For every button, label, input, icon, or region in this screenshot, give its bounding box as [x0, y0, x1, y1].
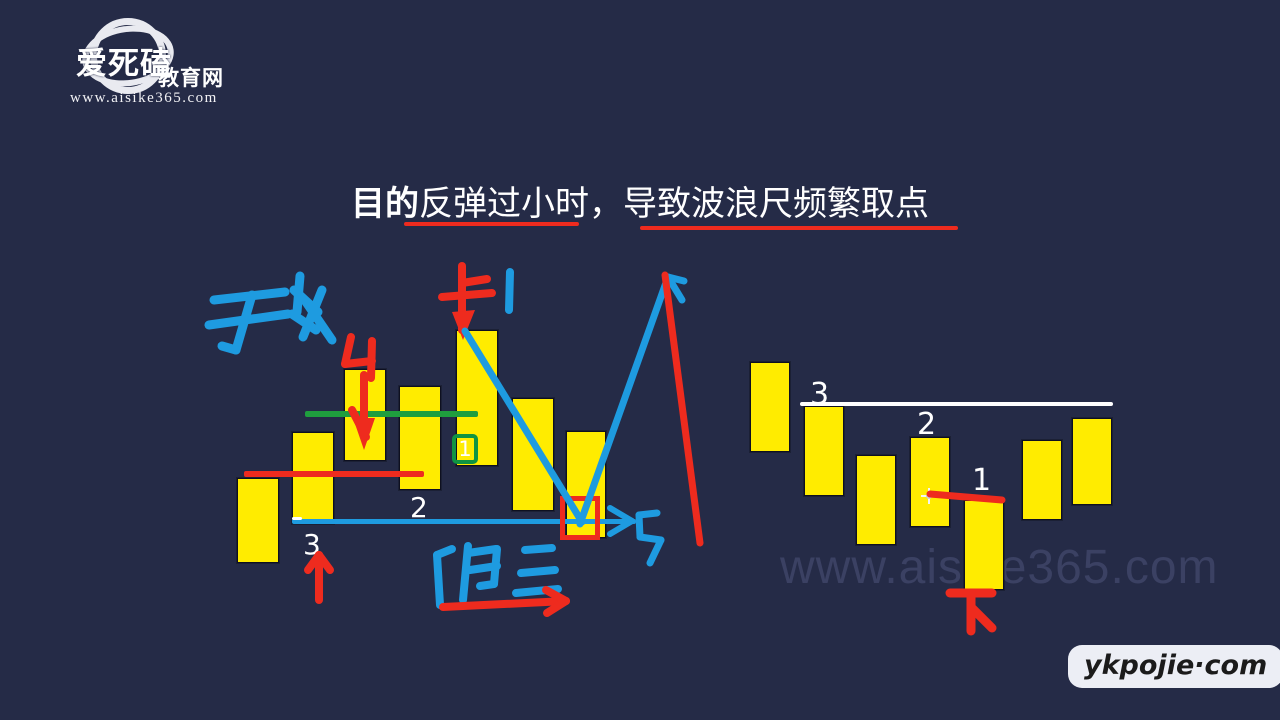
annotation-3-up-arrow: [308, 555, 330, 600]
title-bold-prefix: 目的: [351, 184, 419, 224]
label-3-right: 3: [810, 377, 829, 412]
site-badge: ykpojie·com: [1068, 645, 1280, 688]
label-1-right: 1: [972, 463, 991, 498]
candle-body: [512, 398, 554, 511]
annotation-1-stroke: [509, 272, 510, 310]
brand-sub-label: 教育网: [158, 62, 224, 92]
title-underline-2: [640, 226, 958, 230]
annotation-wuxiao: [209, 276, 332, 350]
candle-body: [1022, 440, 1062, 520]
red-support-line: [244, 471, 424, 477]
white-resistance-line: [800, 402, 1113, 406]
annotation-xia: [950, 593, 992, 631]
title-segment-2: 导致波浪尺频繁取点: [623, 184, 929, 224]
label-2-right: 2: [917, 407, 936, 442]
page-title: 目的反弹过小时，导致波浪尺频繁取点: [0, 176, 1280, 225]
annotation-daosan: [437, 546, 558, 605]
annotation-5: [639, 513, 661, 563]
candle-body: [804, 406, 844, 496]
title-underline-1: [404, 222, 579, 226]
red-down-line: [665, 275, 700, 543]
red-highlight-box: [560, 496, 600, 540]
candle-body: [750, 362, 790, 452]
green-box-value: 1: [458, 437, 471, 461]
annotation-daosan-red-arrow: [443, 590, 566, 613]
candle-body: [292, 432, 334, 524]
candle-body: [964, 500, 1004, 590]
slide-canvas: 爱死磕 教育网 www.aisike365.com 目的反弹过小时，导致波浪尺频…: [0, 0, 1280, 720]
label-2-left: 2: [410, 491, 428, 524]
white-baseline-tick: [292, 517, 302, 520]
green-resistance-line: [305, 411, 478, 417]
candle-body: [237, 478, 279, 563]
candle-body: [1072, 418, 1112, 505]
blue-arrowhead-up: [668, 277, 684, 300]
label-3-left: 3: [303, 528, 321, 561]
green-box-label-1: 1: [452, 434, 478, 464]
candle-body: [910, 437, 950, 527]
brand-url: www.aisike365.com: [70, 90, 218, 107]
annotation-shang-arrow: [442, 266, 492, 330]
title-segment-1: 反弹过小时: [419, 184, 589, 224]
brand-logo: 爱死磕 教育网 www.aisike365.com: [62, 12, 262, 110]
cursor-crosshair-icon: [921, 488, 937, 504]
title-comma: ，: [589, 184, 623, 224]
candle-body: [856, 455, 896, 545]
